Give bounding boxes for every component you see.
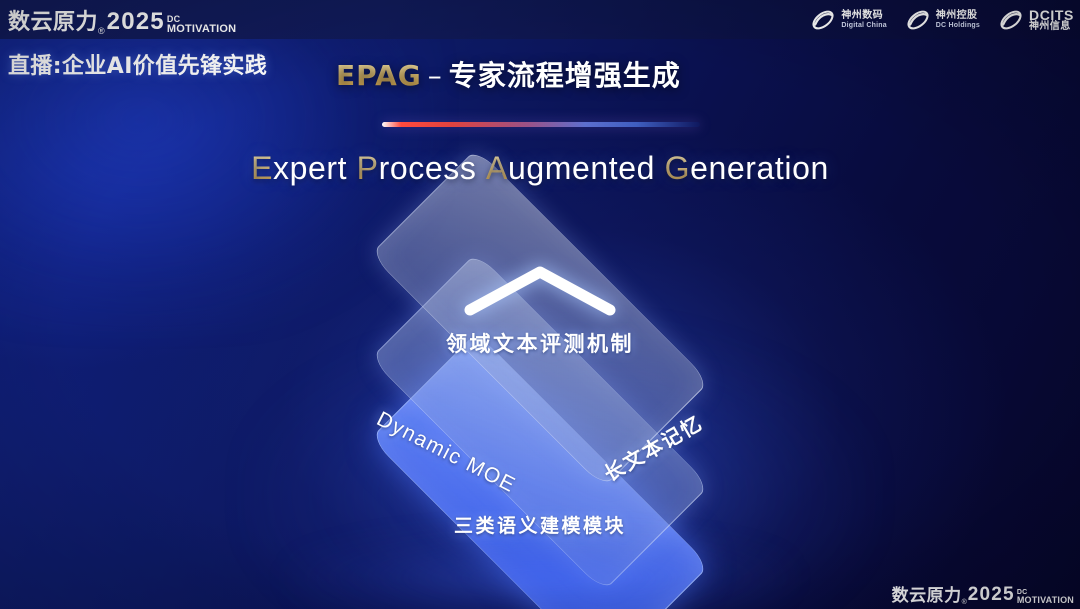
subtitle-cap-4: G [665,150,691,186]
subtitle-rest-1: xpert [273,150,347,186]
subtitle: Expert Process Augmented Generation [0,150,1080,187]
page-title: EPAG–专家流程增强生成 [336,54,681,94]
registered-mark-icon: ® [98,26,105,36]
brand-watermark: 数云原力 ® 2025 DC MOTIVATION [892,581,1074,606]
brand-motivation: MOTIVATION [167,24,236,35]
slide-canvas: 数云原力 ® 2025 DC MOTIVATION 神州数码 Digital C… [0,0,1080,609]
brand-motivation: MOTIVATION [1017,596,1074,605]
diagram-label-bottom: 三类语义建模模块 [0,511,1080,538]
partner-logo-group: 神州数码 Digital China 神州控股 DC Holdings [810,4,1074,36]
brand-name-cn: 数云原力 [892,581,962,606]
subtitle-rest-4: eneration [690,150,829,186]
brand-year: 2025 [107,8,165,36]
gradient-divider [382,122,700,127]
partner-name-en: Digital China [841,22,886,29]
partner-name-latin: DCITS [1029,8,1074,22]
chevron-up-icon [460,260,620,320]
subtitle-rest-3: ugmented [508,150,655,186]
layer-stack-diagram: 领域文本评测机制 Dynamic MOE 长文本记忆 三类语义建模模块 [0,215,1080,609]
subtitle-cap-2: P [357,150,379,186]
title-dash: – [428,59,443,92]
subtitle-rest-2: rocess [379,150,477,186]
brand-year: 2025 [968,584,1015,606]
swirl-logo-icon [810,7,836,33]
partner-name-en: DC Holdings [936,22,980,29]
subtitle-cap-3: A [486,150,508,186]
brand-logo: 数云原力 ® 2025 DC MOTIVATION [8,4,236,36]
diagram-label-top: 领域文本评测机制 [0,328,1080,358]
brand-name-cn: 数云原力 [8,4,98,36]
partner-name-cn: 神州控股 [936,11,980,22]
partner-dc-holdings: 神州控股 DC Holdings [905,7,980,33]
swirl-logo-icon [998,7,1024,33]
partner-name-cn: 神州信息 [1029,22,1074,33]
partner-digital-china: 神州数码 Digital China [810,7,886,33]
title-chinese: 专家流程增强生成 [449,59,681,92]
title-acronym: EPAG [336,59,422,92]
partner-dcits: DCITS 神州信息 [998,7,1074,33]
subtitle-cap-1: E [251,150,273,186]
registered-mark-icon: ® [962,599,967,606]
swirl-logo-icon [905,7,931,33]
partner-name-cn: 神州数码 [841,11,886,22]
live-stream-label: 直播:企业AI价值先锋实践 [8,48,267,80]
